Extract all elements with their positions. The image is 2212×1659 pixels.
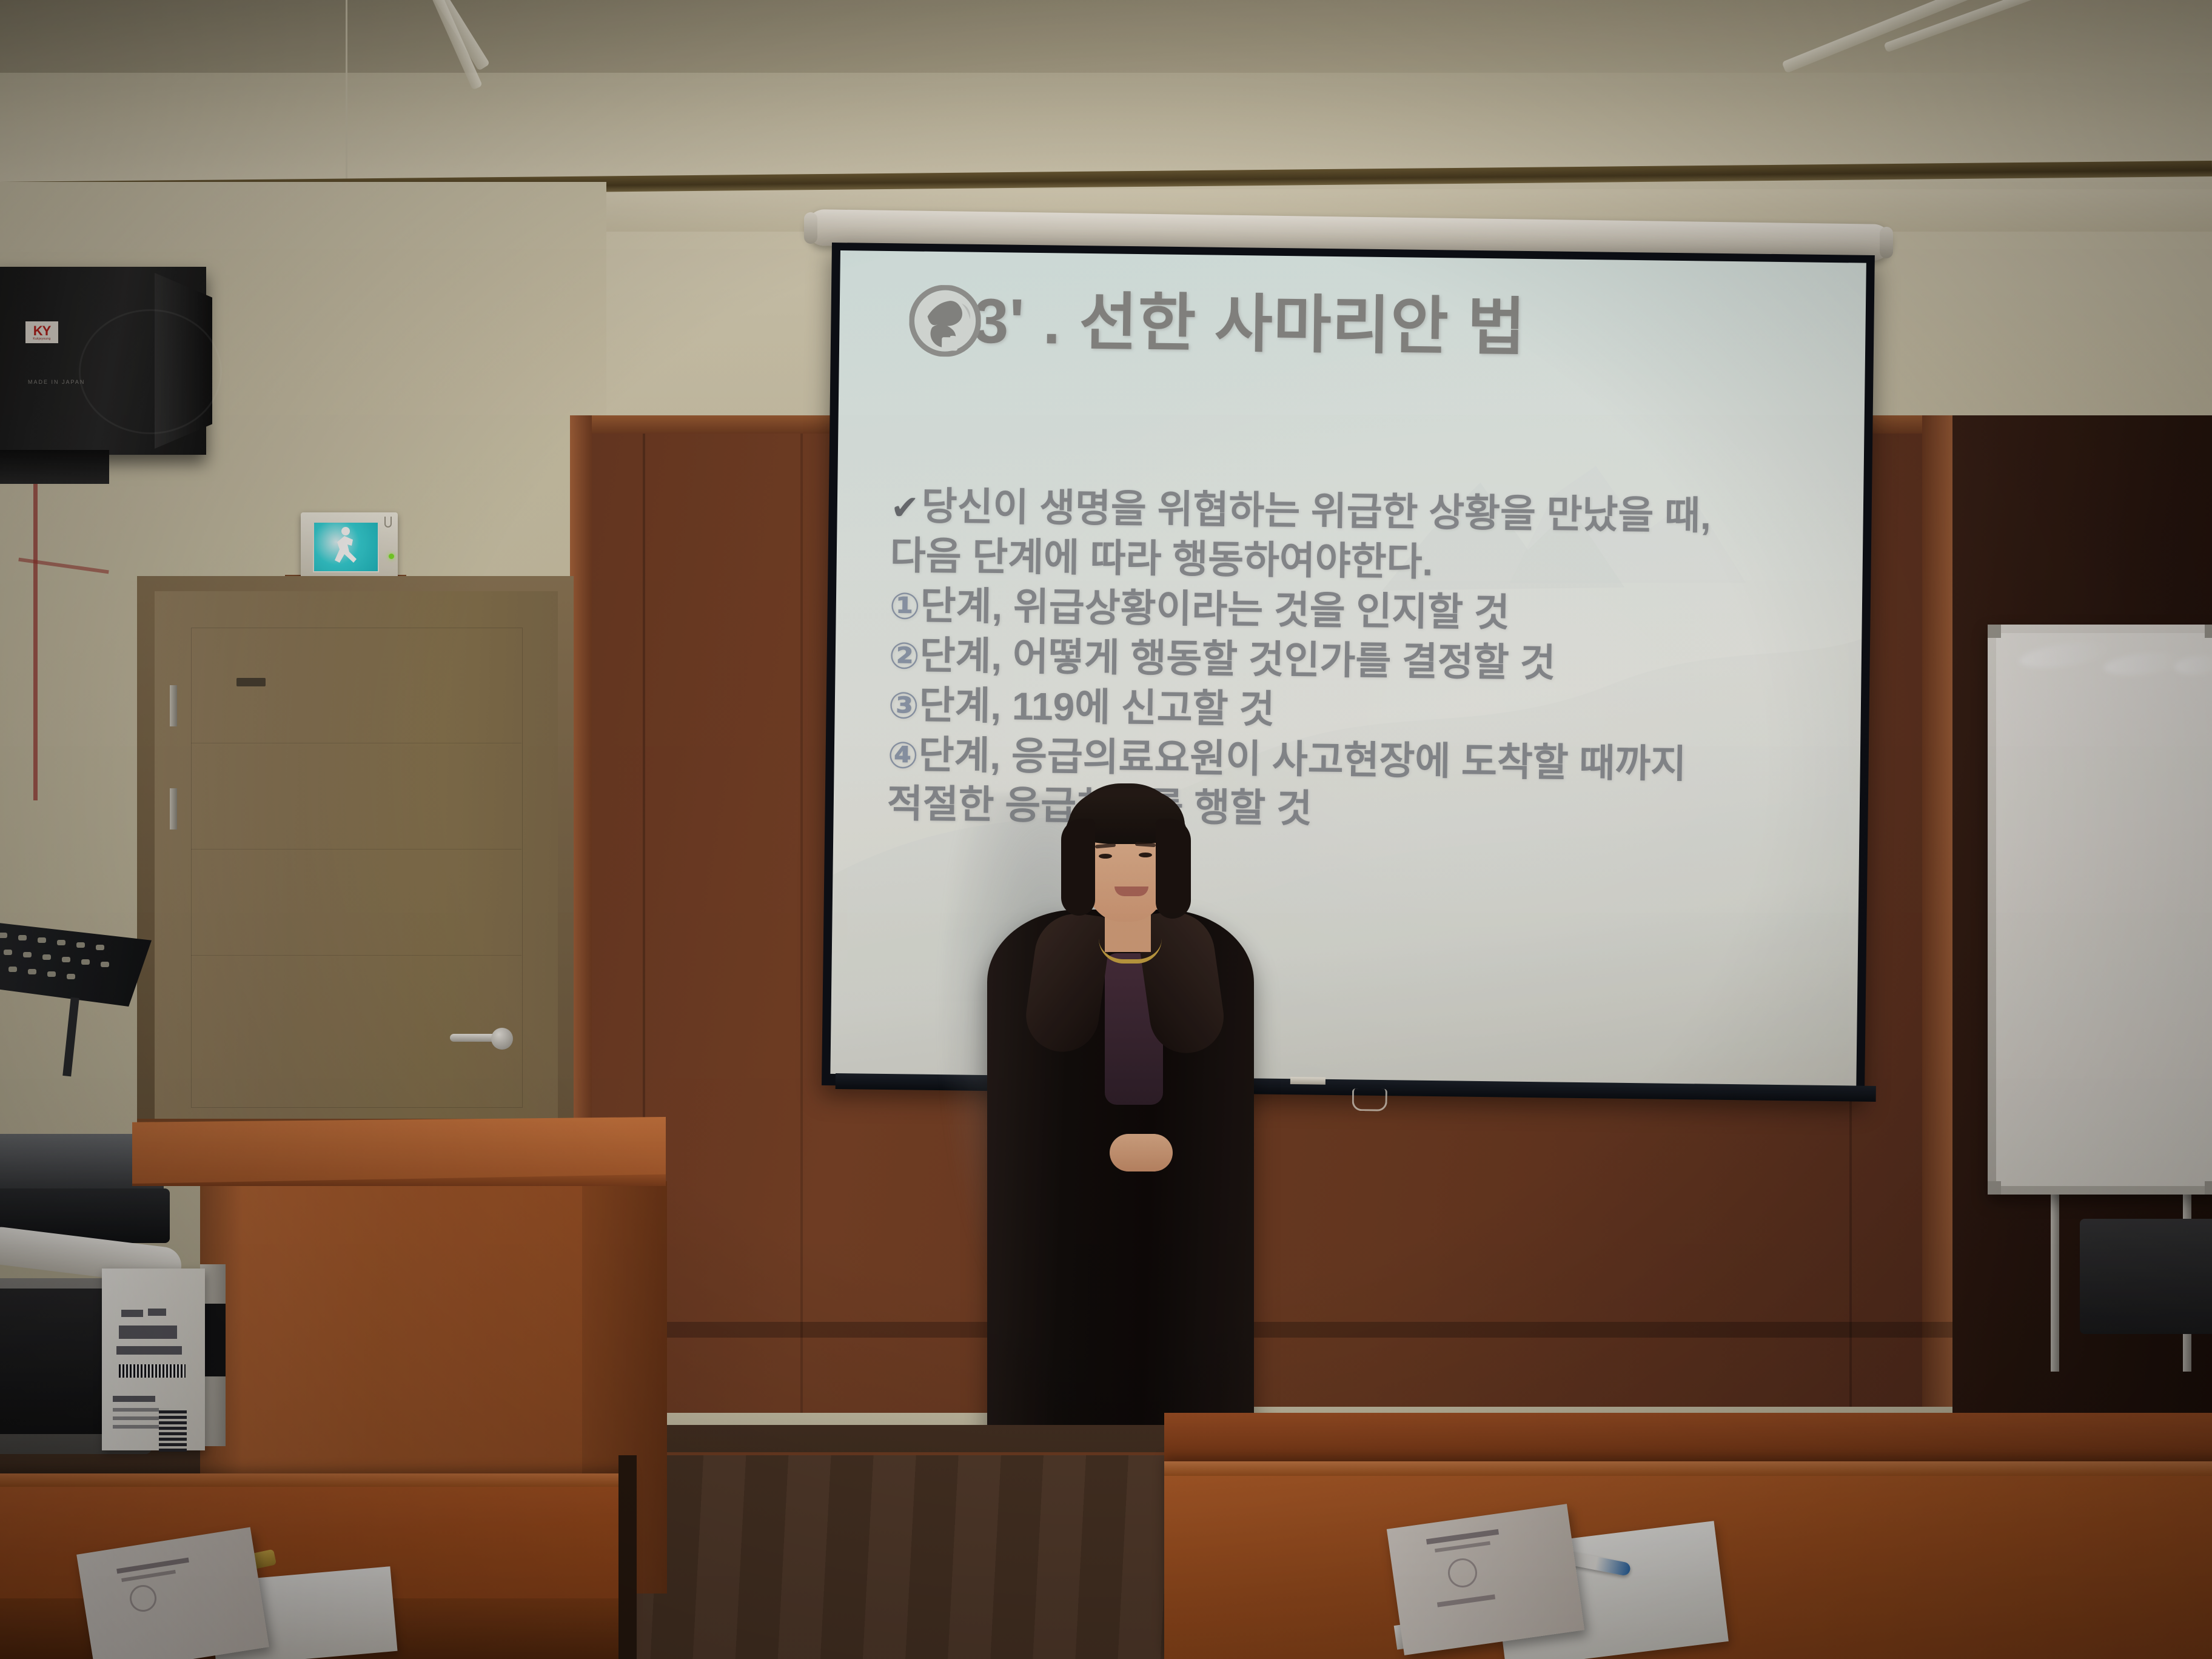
desk-gap (618, 1455, 637, 1659)
barcode-icon (119, 1364, 186, 1378)
ceiling-slant (0, 0, 2212, 73)
door-handle-rose (491, 1028, 513, 1050)
door-hinge-icon (170, 788, 177, 829)
step-number-3: ③ (888, 685, 919, 726)
checkmark-icon: ✔ (890, 488, 919, 527)
step-number-1: ① (889, 586, 920, 627)
product-box-code-strip (159, 1408, 187, 1452)
slide-line-text: 당신이 생명을 위협하는 위급한 상황을 만났을 때, (921, 484, 1711, 538)
step-text-4: 단계, 응급의료요원이 사고현장에 도착할 때까지 (918, 732, 1686, 785)
desk-right-edge (1164, 1461, 2212, 1476)
whiteboard-corner (1988, 625, 2001, 638)
whiteboard-stand-leg (2051, 1190, 2059, 1372)
product-box-text-block (116, 1346, 182, 1355)
product-box-text-block (113, 1416, 166, 1420)
slide-title-row: 3' . 선한 사마리안 법 (909, 284, 1526, 363)
product-box (102, 1269, 205, 1450)
whiteboard-corner (2205, 1181, 2212, 1195)
door-seam (191, 849, 521, 850)
speaker-cone-icon (79, 309, 222, 434)
roller-end-cap (804, 212, 817, 244)
presenter-hair-right (1156, 819, 1191, 919)
whiteboard-surface[interactable] (1996, 633, 2212, 1186)
eye-left (1099, 854, 1112, 859)
equipment-case (2080, 1219, 2212, 1334)
product-box-text-block (119, 1326, 177, 1339)
door-seam (191, 743, 521, 743)
speaker-mount-bracket (0, 450, 109, 484)
step-number-2: ② (888, 635, 920, 677)
door-hinge-icon (170, 685, 177, 726)
presenter-hair-left (1061, 819, 1095, 916)
screen-pull-ring-handle[interactable] (1352, 1088, 1387, 1111)
panel-seam (800, 434, 803, 1428)
door-seam (191, 955, 521, 956)
wall-conduit-pipe (33, 461, 38, 800)
booklet-right (1387, 1504, 1584, 1655)
step-text-2: 단계, 어떻게 행동할 것인가를 결정할 것 (919, 633, 1556, 685)
screen-bar-chrome-clip (1290, 1077, 1326, 1085)
step-text-1: 단계, 위급상황이라는 것을 인지할 것 (920, 583, 1510, 634)
speaker-made-in-label: MADE IN JAPAN (28, 379, 85, 385)
presenter-hands (1110, 1134, 1173, 1171)
roller-end-cap (1880, 227, 1893, 258)
door-plaque (236, 678, 266, 686)
product-box-text-block (121, 1310, 143, 1317)
whiteboard-corner (1988, 1181, 2001, 1195)
slide-title: 3' . 선한 사마리안 법 (973, 290, 1526, 360)
panel-shadow-band (570, 1322, 1952, 1338)
desk-left-edge (0, 1473, 631, 1487)
product-box-text-block (148, 1309, 166, 1316)
lecture-room-scene: KY Kukjeyoung MADE IN JAPAN (0, 0, 2212, 1659)
mouth-smile (1114, 886, 1148, 896)
exit-sign-hook-icon (384, 517, 392, 528)
step-text-3: 단계, 119에 신고할 것 (919, 683, 1275, 731)
product-box-dark-panel (201, 1304, 226, 1376)
exit-sign-indicator-led (389, 554, 394, 559)
speaker-brand-badge: KY Kukjeyoung (25, 321, 58, 343)
desk-rear-rail (1164, 1413, 2212, 1466)
panel-frame-right (1922, 415, 1952, 1434)
product-box-text-block (113, 1396, 155, 1402)
speaker-brand-label: KY (33, 324, 51, 338)
eye-right (1139, 853, 1152, 857)
globe-earth-icon (909, 284, 981, 357)
step-number-4: ④ (887, 735, 919, 776)
slide-body: ✔당신이 생명을 위협하는 위급한 상황을 만났을 때, 다음 단계에 따라 행… (886, 481, 1837, 840)
running-person-icon (327, 525, 365, 568)
speaker-brand-sub-label: Kukjeyoung (33, 338, 50, 341)
whiteboard-corner (2205, 625, 2212, 638)
lectern-top (132, 1117, 666, 1184)
